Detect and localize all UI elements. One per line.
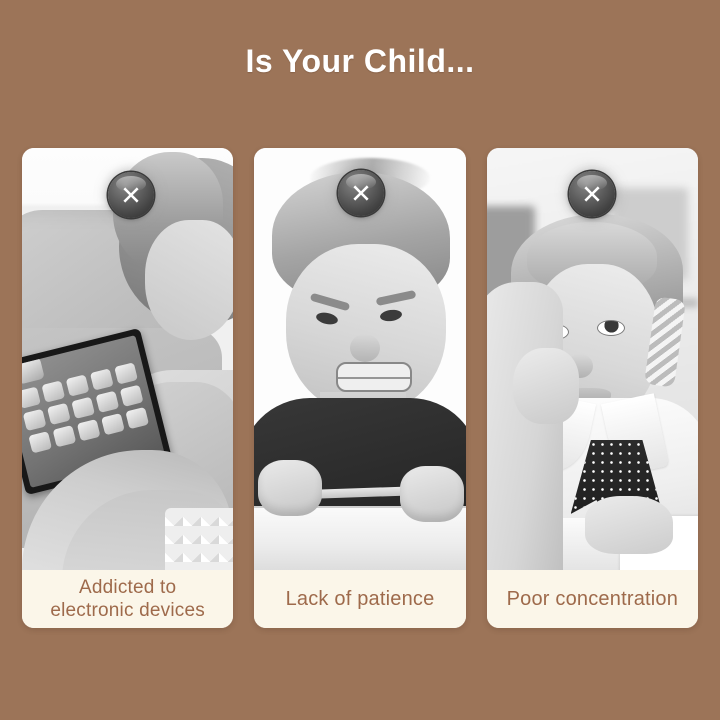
photo-boy-fist-left [258,460,322,516]
photo-girl-hand-on-chin [513,348,579,424]
photo-boy-fist-right [400,466,464,522]
photo-blanket-pattern [165,508,233,570]
card-photo-addicted [22,148,233,570]
photo-girl-arm [487,282,563,570]
problem-card-row: Addicted to electronic devices [22,148,698,628]
caption-line-1: Addicted to [79,577,176,598]
card-caption-text: Lack of patience [286,587,435,611]
x-mark-icon [569,171,615,217]
photo-girl-eye-right [597,320,625,336]
card-photo-poor-concentration [487,148,698,570]
photo-boy-gritted-teeth [336,362,412,392]
photo-tablet-app-icon-large [22,357,45,385]
card-caption-text: Addicted to electronic devices [50,576,205,622]
card-caption-addicted: Addicted to electronic devices [22,570,233,628]
card-photo-lack-of-patience [254,148,465,570]
caption-line-2: electronic devices [50,600,205,621]
x-mark-icon [108,172,154,218]
problem-card-poor-concentration[interactable]: Poor concentration [487,148,698,628]
problem-card-lack-of-patience[interactable]: Lack of patience [254,148,465,628]
photo-child-face [145,220,233,340]
card-caption-text: Poor concentration [507,587,678,611]
card-caption-poor-concentration: Poor concentration [487,570,698,628]
photo-girl-hand-on-desk [585,496,673,554]
problem-card-addicted-to-electronic-devices[interactable]: Addicted to electronic devices [22,148,233,628]
x-mark-icon [338,170,384,216]
page-title: Is Your Child... [0,40,720,82]
card-caption-lack-of-patience: Lack of patience [254,570,465,628]
